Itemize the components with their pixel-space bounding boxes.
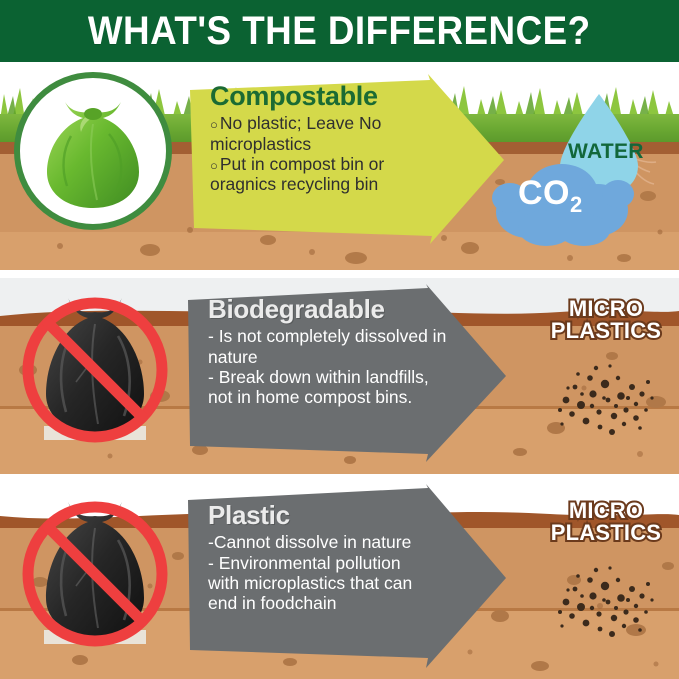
co2-label: CO2 (518, 174, 583, 218)
plastic-bag-prohibited-image (18, 290, 172, 450)
list-item: nature (208, 347, 508, 367)
microplastics-line-1: MICRO (537, 298, 675, 320)
page-title: WHAT'S THE DIFFERENCE? (88, 9, 591, 54)
microplastic-particles-icon (548, 556, 658, 646)
list-item: with microplastics that can (208, 573, 508, 593)
green-trash-bag-icon (31, 92, 155, 216)
plastic-bullets: -Cannot dissolve in nature - Environment… (208, 532, 508, 613)
infographic-poster: WHAT'S THE DIFFERENCE? (0, 0, 679, 679)
list-item: ○Put in compost bin or (210, 154, 488, 174)
list-item: microplastics (210, 134, 488, 154)
panel-biodegradable: Biodegradable - Is not completely dissol… (0, 278, 679, 474)
compostable-bullets: ○No plastic; Leave No microplastics ○Put… (210, 113, 488, 194)
compostable-bag-image (14, 72, 172, 230)
panel-compostable: Compostable ○No plastic; Leave No microp… (0, 62, 679, 270)
microplastics-line-2: PLASTICS (537, 320, 675, 342)
prohibition-sign-icon (18, 290, 172, 450)
list-item: oragnics recycling bin (210, 174, 488, 194)
list-item: - Environmental pollution (208, 553, 508, 573)
list-item: - Break down within landfills, (208, 367, 508, 387)
panel-plastic: Plastic -Cannot dissolve in nature - Env… (0, 482, 679, 679)
plastic-arrow: Plastic -Cannot dissolve in nature - Env… (182, 484, 512, 674)
biodegradable-bullets: - Is not completely dissolved in nature … (208, 326, 508, 407)
biodegradable-title: Biodegradable (208, 296, 508, 323)
microplastics-line-2: PLASTICS (537, 522, 675, 544)
plastic-bag-prohibited-image (18, 494, 172, 654)
microplastics-label: MICRO PLASTICS (537, 298, 675, 343)
header-banner: WHAT'S THE DIFFERENCE? (0, 0, 679, 62)
compostable-arrow: Compostable ○No plastic; Leave No microp… (184, 68, 510, 253)
list-item: - Is not completely dissolved in (208, 326, 508, 346)
plastic-arrow-content: Plastic -Cannot dissolve in nature - Env… (208, 502, 508, 613)
microplastics-line-1: MICRO (537, 500, 675, 522)
microplastic-particles-icon (548, 354, 658, 444)
biodegradable-arrow-content: Biodegradable - Is not completely dissol… (208, 296, 508, 407)
bullet-icon: ○ (210, 117, 218, 132)
bullet-icon: ○ (210, 158, 218, 173)
plastic-title: Plastic (208, 502, 508, 529)
list-item: ○No plastic; Leave No (210, 113, 488, 133)
list-item: -Cannot dissolve in nature (208, 532, 508, 552)
prohibition-sign-icon (18, 494, 172, 654)
compostable-title: Compostable (210, 82, 488, 110)
compostable-arrow-content: Compostable ○No plastic; Leave No microp… (210, 82, 488, 195)
list-item: not in home compost bins. (208, 387, 508, 407)
microplastics-label: MICRO PLASTICS (537, 500, 675, 545)
list-item: end in foodchain (208, 593, 508, 613)
biodegradable-arrow: Biodegradable - Is not completely dissol… (182, 282, 512, 468)
